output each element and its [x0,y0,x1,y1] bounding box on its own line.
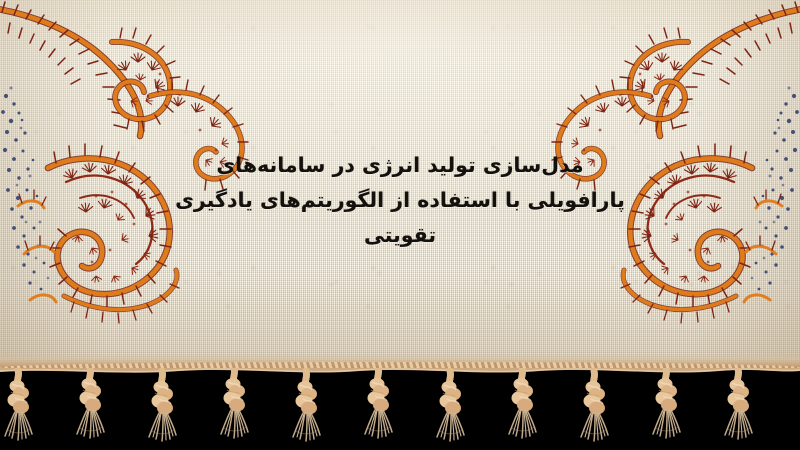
navy-speckle-field [1,87,49,291]
slide-canvas: مدل‌سازی تولید انرژی در سامانه‌های پاراف… [0,0,800,450]
title-line-2: پارافویلی با استفاده از الگوریتم‌های یاد… [150,183,650,218]
tassel-group [5,368,752,441]
title-line-3: تقویتی [150,218,650,253]
tassel-fringe [0,368,800,450]
slide-title: مدل‌سازی تولید انرژی در سامانه‌های پاراف… [150,148,650,253]
title-line-1: مدل‌سازی تولید انرژی در سامانه‌های [150,148,650,183]
